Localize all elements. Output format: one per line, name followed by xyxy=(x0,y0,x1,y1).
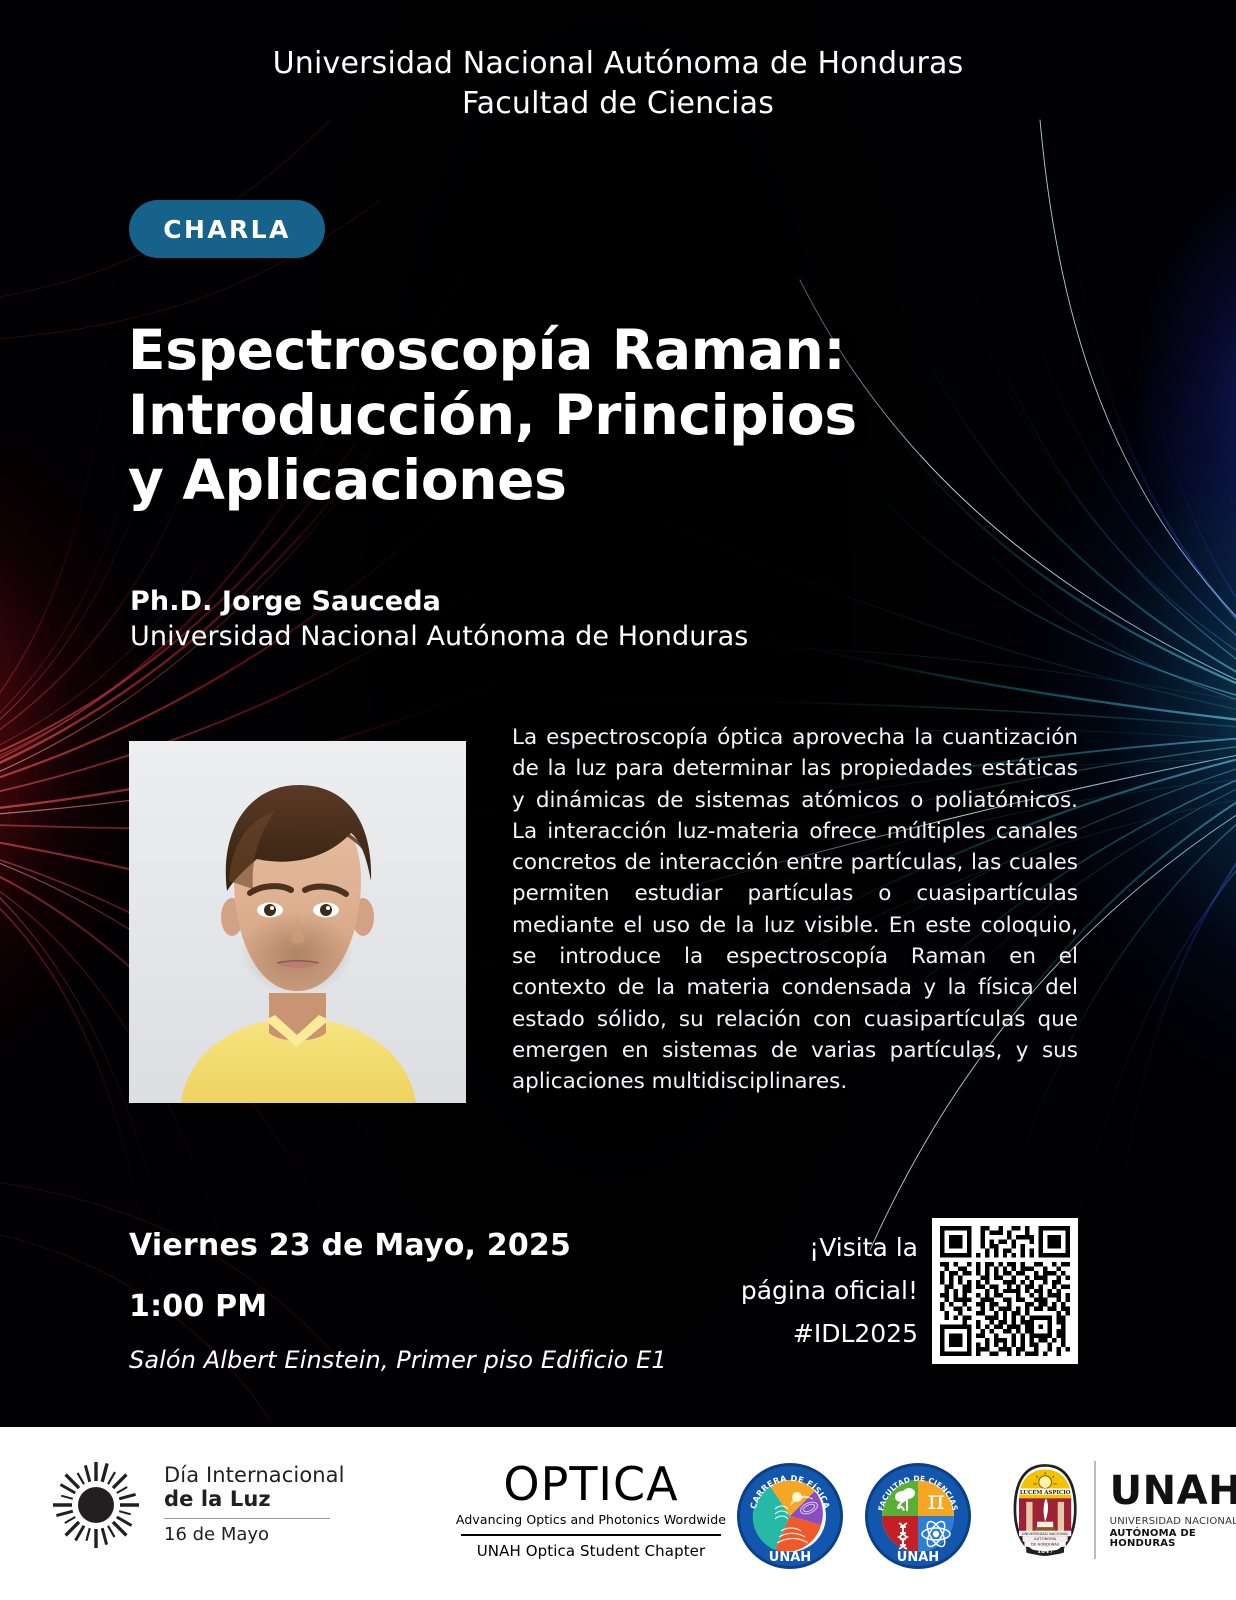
abstract-text: La espectroscopía óptica aprovecha la cu… xyxy=(512,722,1078,1097)
seal-facultad-de-ciencias: π FACULTAD DE CIENCIAS UNAH xyxy=(863,1461,973,1571)
speaker-affiliation: Universidad Nacional Autónoma de Hondura… xyxy=(130,620,950,655)
seal-1-bottom-text: UNAH xyxy=(769,1550,811,1565)
unah-motto: LUCEM ASPICIO xyxy=(1020,1490,1071,1496)
seal-2-bottom-text: UNAH xyxy=(897,1550,939,1565)
title-line-3: y Aplicaciones xyxy=(128,448,1028,513)
optica-logo: OPTICA Advancing Optics and Photonics Wo… xyxy=(455,1461,727,1560)
svg-text:AUTÓNOMA: AUTÓNOMA xyxy=(1034,1536,1057,1541)
idl-line-1: Día Internacional xyxy=(164,1464,345,1488)
charla-badge: CHARLA xyxy=(129,200,325,258)
optica-divider xyxy=(461,1534,721,1536)
event-date: Viernes 23 de Mayo, 2025 xyxy=(129,1228,769,1263)
poster-content: Universidad Nacional Autónoma de Hondura… xyxy=(0,0,1236,1600)
event-location: Salón Albert Einstein, Primer piso Edifi… xyxy=(129,1346,769,1374)
seal-carrera-de-fisica: CARRERA DE FÍSICA UNAH xyxy=(735,1461,845,1571)
header-line-1: Universidad Nacional Autónoma de Hondura… xyxy=(0,44,1236,84)
unah-year: 1847 xyxy=(1037,1549,1053,1555)
unah-shield-icon: LUCEM ASPICIO UNIVERSIDAD NACIONAL AUTÓN… xyxy=(1010,1457,1080,1563)
visit-line-2: página oficial! xyxy=(700,1269,918,1312)
unah-wordmark: UNAH xyxy=(1110,1471,1236,1511)
optica-tagline: Advancing Optics and Photonics Wordwide xyxy=(455,1512,727,1527)
page-title: Espectroscopía Raman: Introducción, Prin… xyxy=(128,318,1028,513)
speaker-name: Ph.D. Jorge Sauceda xyxy=(130,585,950,620)
idl-divider xyxy=(164,1518,330,1519)
poster-root: Universidad Nacional Autónoma de Hondura… xyxy=(0,0,1236,1600)
speaker-block: Ph.D. Jorge Sauceda Universidad Nacional… xyxy=(130,585,950,654)
optica-wordmark: OPTICA xyxy=(455,1461,727,1507)
unah-sub-2: AUTÓNOMA DE HONDURAS xyxy=(1110,1529,1236,1549)
svg-text:DE HONDURAS: DE HONDURAS xyxy=(1031,1542,1060,1547)
svg-text:UNIVERSIDAD NACIONAL: UNIVERSIDAD NACIONAL xyxy=(1022,1531,1070,1536)
title-line-2: Introducción, Principios xyxy=(128,383,1028,448)
header-line-2: Facultad de Ciencias xyxy=(0,84,1236,124)
footer-logos-bar: Día Internacional de la Luz 16 de Mayo O… xyxy=(0,1427,1236,1600)
institution-header: Universidad Nacional Autónoma de Hondura… xyxy=(0,44,1236,124)
speaker-portrait xyxy=(129,741,466,1103)
title-line-1: Espectroscopía Raman: xyxy=(128,318,1028,383)
optica-chapter: UNAH Optica Student Chapter xyxy=(455,1542,727,1560)
idl-date: 16 de Mayo xyxy=(164,1525,345,1545)
unah-divider xyxy=(1094,1461,1095,1559)
event-time: 1:00 PM xyxy=(129,1289,769,1324)
visit-hashtag: #IDL2025 xyxy=(700,1312,918,1355)
visit-callout: ¡Visita la página oficial! #IDL2025 xyxy=(700,1226,918,1355)
idl-logo: Día Internacional de la Luz 16 de Mayo xyxy=(44,1453,345,1557)
sunburst-icon xyxy=(44,1453,148,1557)
event-details: Viernes 23 de Mayo, 2025 1:00 PM Salón A… xyxy=(129,1228,769,1374)
idl-line-2: de la Luz xyxy=(164,1488,345,1512)
qr-code[interactable] xyxy=(932,1218,1078,1364)
visit-line-1: ¡Visita la xyxy=(700,1226,918,1269)
university-seals: CARRERA DE FÍSICA UNAH π xyxy=(735,1461,973,1571)
unah-sub-1: UNIVERSIDAD NACIONAL xyxy=(1110,1517,1236,1527)
unah-logo: LUCEM ASPICIO UNIVERSIDAD NACIONAL AUTÓN… xyxy=(1010,1457,1236,1563)
